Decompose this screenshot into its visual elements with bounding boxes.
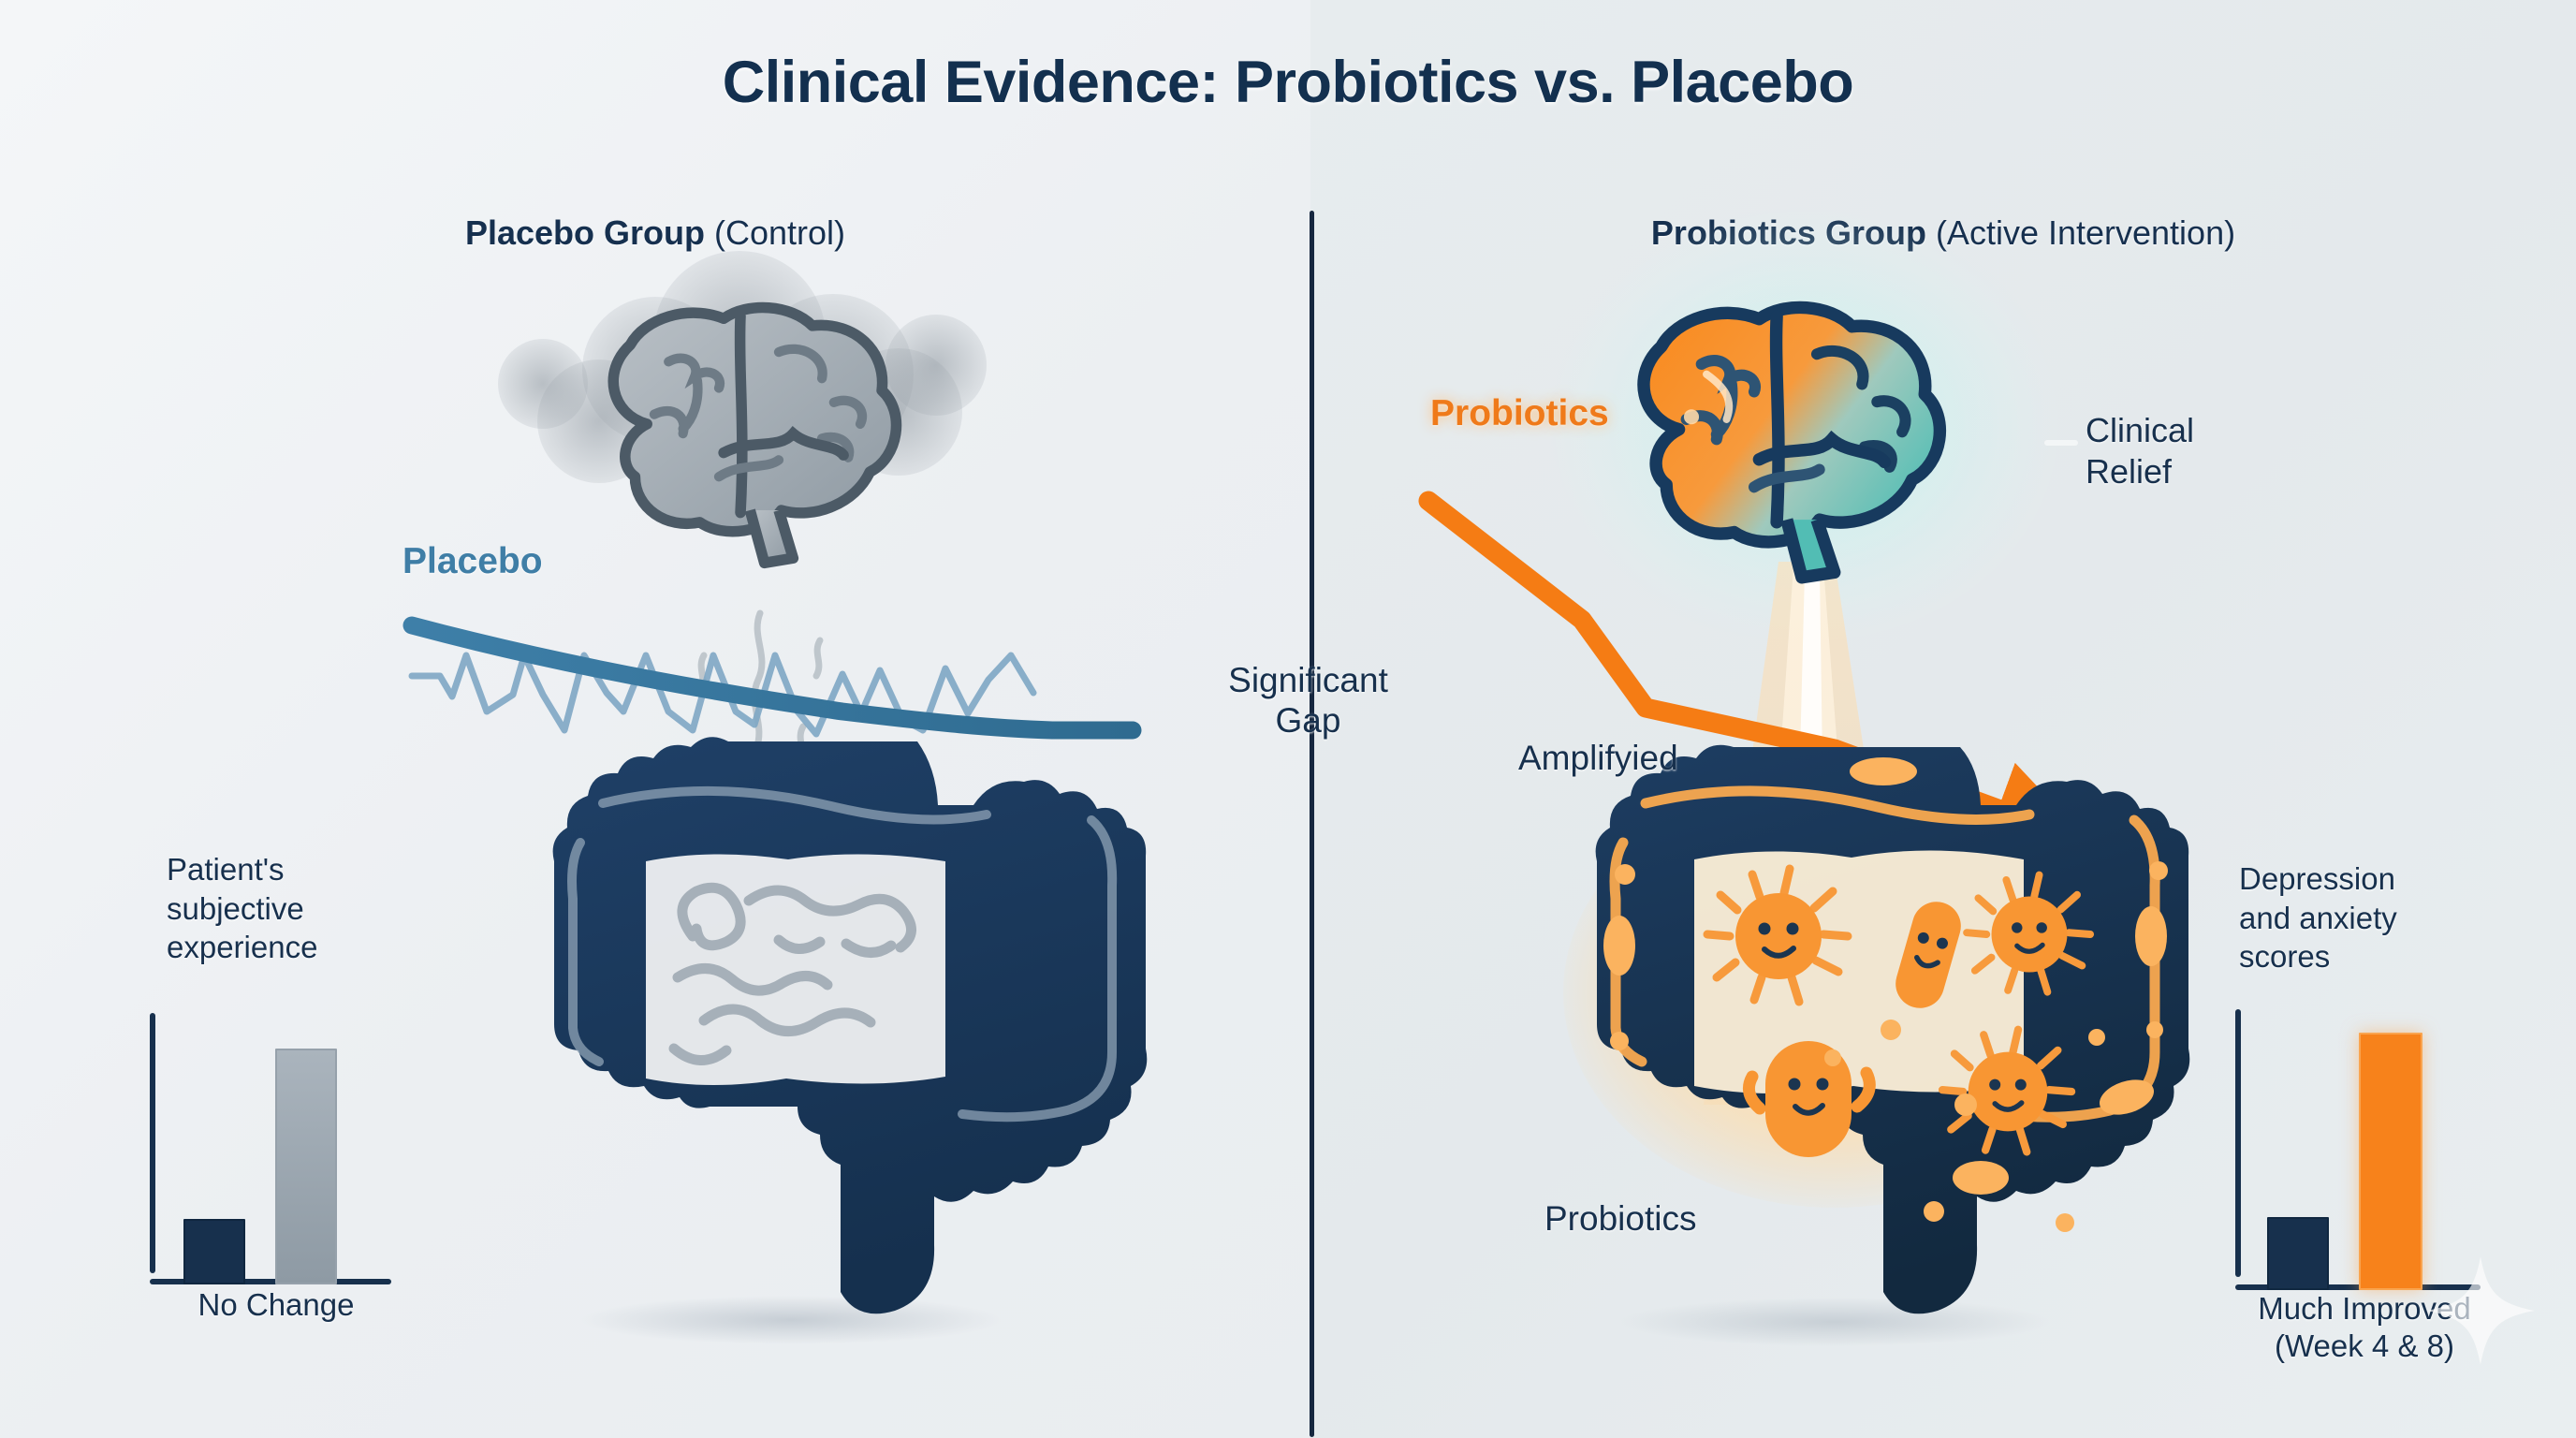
gray-colon-icon	[553, 737, 1148, 1313]
placebo-mini-bar-chart: No Change	[150, 1013, 402, 1284]
infographic-canvas: Clinical Evidence: Probiotics vs. Placeb…	[0, 0, 2576, 1438]
probiotics-line-label: Probiotics	[1430, 393, 1609, 434]
bar-outcome	[275, 1049, 337, 1284]
depression-caption-line-1: Depression	[2239, 859, 2482, 899]
chart-y-axis	[150, 1013, 155, 1273]
relief-line-1: Clinical	[2086, 410, 2194, 451]
gut-shadow-right	[1619, 1298, 2050, 1346]
gray-brain-icon	[613, 307, 896, 563]
caption-line-1: No Change	[150, 1286, 402, 1324]
probiotics-mini-bar-chart: Much Improved (Week 4 & 8)	[2235, 1009, 2497, 1290]
probiotics-gut-label: Probiotics	[1544, 1199, 1696, 1239]
clinical-relief-label: Clinical Relief	[2086, 410, 2194, 492]
patient-caption-line-3: experience	[167, 928, 391, 967]
chart-y-axis	[2235, 1009, 2241, 1277]
patient-caption-line-2: subjective	[167, 889, 391, 929]
depression-caption-line-2: and anxiety	[2239, 899, 2482, 938]
depression-caption-line-3: scores	[2239, 937, 2482, 976]
bar-baseline	[183, 1219, 245, 1284]
patient-experience-caption: Patient's subjective experience	[167, 850, 391, 967]
sparkle-watermark	[2424, 1255, 2537, 1367]
bar-baseline	[2267, 1217, 2329, 1290]
depression-scores-caption: Depression and anxiety scores	[2239, 859, 2482, 976]
patient-caption-line-1: Patient's	[167, 850, 391, 889]
placebo-line-label: Placebo	[402, 541, 543, 582]
relief-connector-dash	[2044, 440, 2078, 446]
placebo-chart-caption: No Change	[150, 1286, 402, 1324]
relief-line-2: Relief	[2086, 451, 2194, 492]
gut-shadow	[580, 1296, 1002, 1344]
amplified-label: Amplifyied	[1518, 739, 1678, 778]
placebo-trend-chart	[412, 625, 1133, 734]
bar-outcome	[2359, 1033, 2422, 1290]
